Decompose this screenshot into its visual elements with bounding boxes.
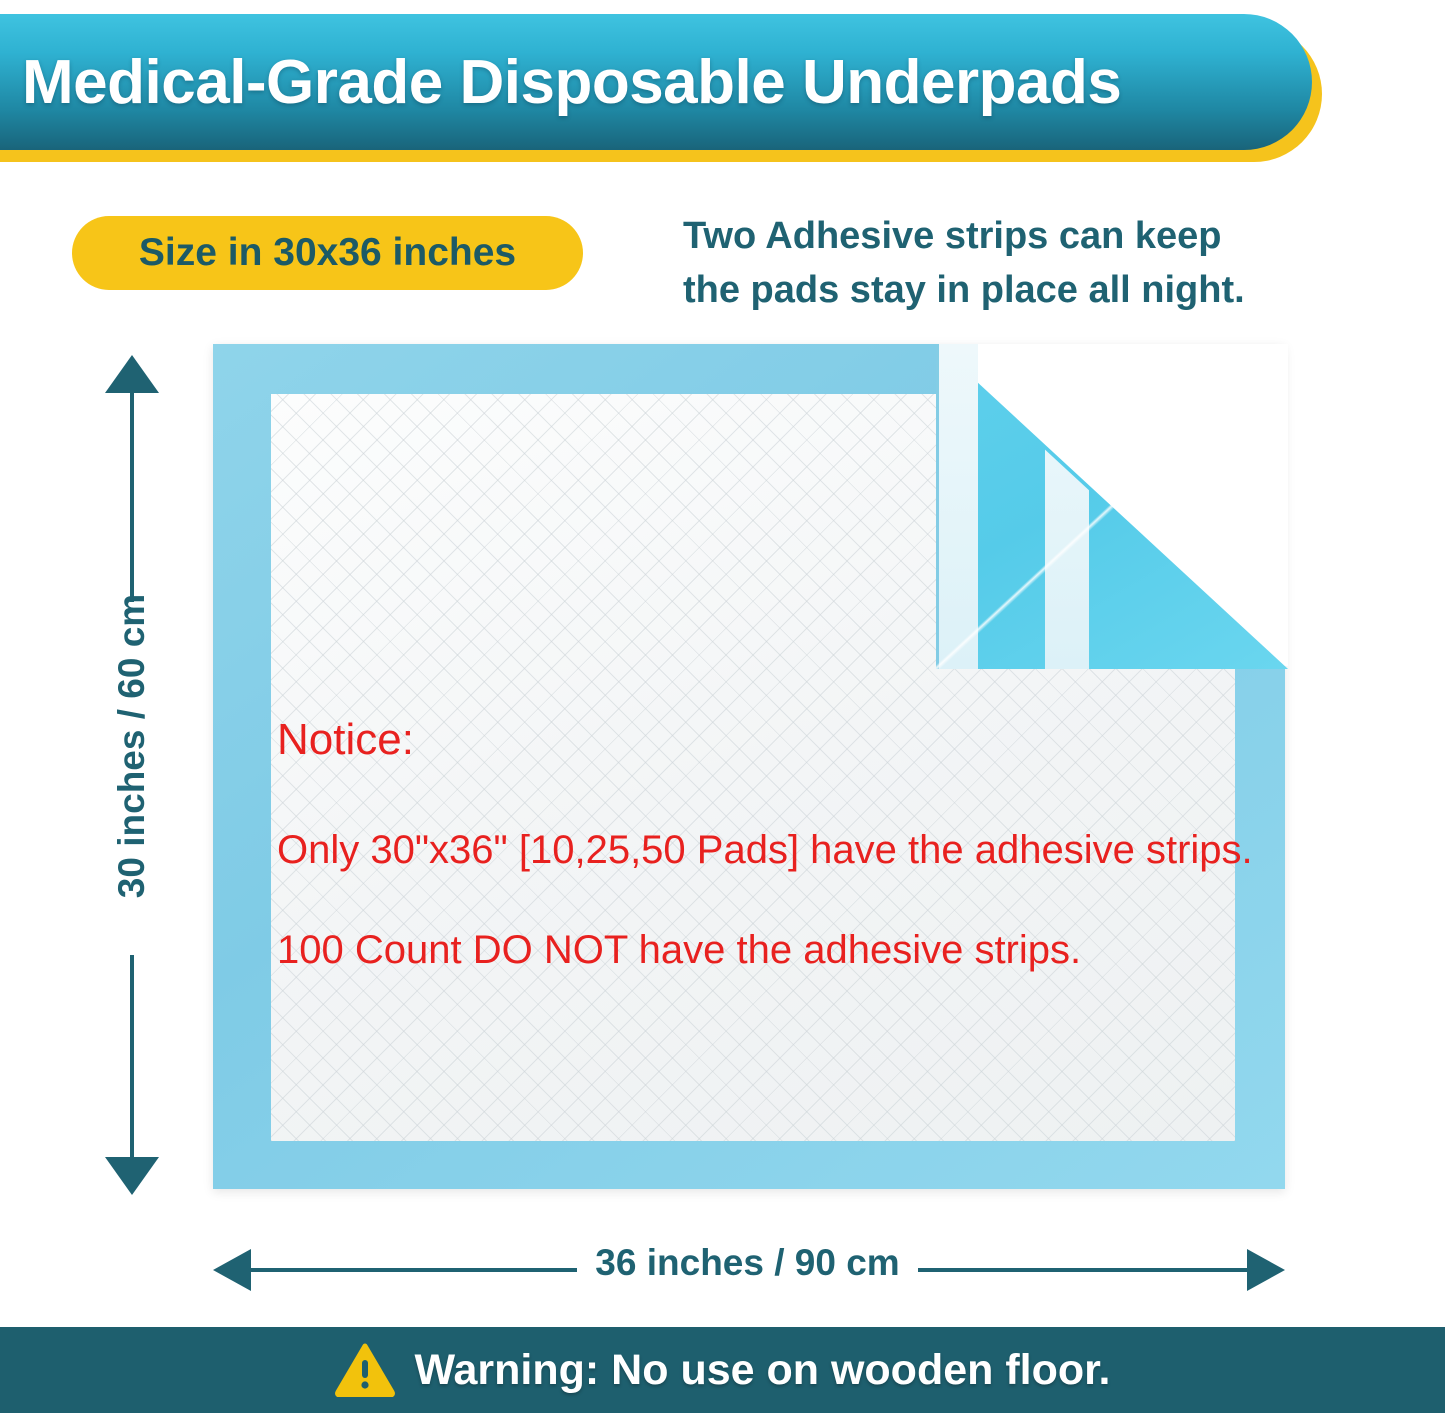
size-badge: Size in 30x36 inches [72, 216, 583, 290]
dimension-horizontal-line-right [918, 1268, 1248, 1272]
header-banner: Medical-Grade Disposable Underpads [0, 14, 1312, 150]
adhesive-note-line-2: the pads stay in place all night. [683, 264, 1363, 318]
notice-line-2: 100 Count DO NOT have the adhesive strip… [277, 930, 1367, 970]
arrow-right-icon [1247, 1249, 1285, 1291]
header-banner-plate: Medical-Grade Disposable Underpads [0, 14, 1312, 150]
warning-triangle-icon [335, 1343, 395, 1397]
notice-line-1: Only 30"x36" [10,25,50 Pads] have the ad… [277, 830, 1367, 870]
adhesive-strip-icon-1 [936, 344, 978, 669]
adhesive-note: Two Adhesive strips can keep the pads st… [683, 210, 1363, 318]
dimension-horizontal-label: 36 inches / 90 cm [577, 1242, 918, 1284]
fold-edge-band [936, 344, 939, 669]
notice-heading: Notice: [277, 718, 1367, 762]
size-badge-label: Size in 30x36 inches [139, 231, 516, 275]
dimension-vertical-label: 30 inches / 60 cm [111, 566, 153, 926]
dimension-vertical-line-bottom [130, 955, 134, 1163]
product-image-underpad: Notice: Only 30"x36" [10,25,50 Pads] hav… [213, 344, 1285, 1189]
arrow-left-icon [213, 1249, 251, 1291]
adhesive-note-line-1: Two Adhesive strips can keep [683, 210, 1363, 264]
page-title: Medical-Grade Disposable Underpads [22, 47, 1121, 118]
dimension-horizontal: 36 inches / 90 cm [213, 1230, 1285, 1310]
dimension-vertical: 30 inches / 60 cm [80, 355, 184, 1195]
dimension-horizontal-line-left [247, 1268, 577, 1272]
arrow-down-icon [105, 1157, 159, 1195]
notice-block: Notice: Only 30"x36" [10,25,50 Pads] hav… [277, 718, 1367, 970]
warning-text: Warning: No use on wooden floor. [415, 1346, 1111, 1395]
warning-bar: Warning: No use on wooden floor. [0, 1327, 1445, 1413]
